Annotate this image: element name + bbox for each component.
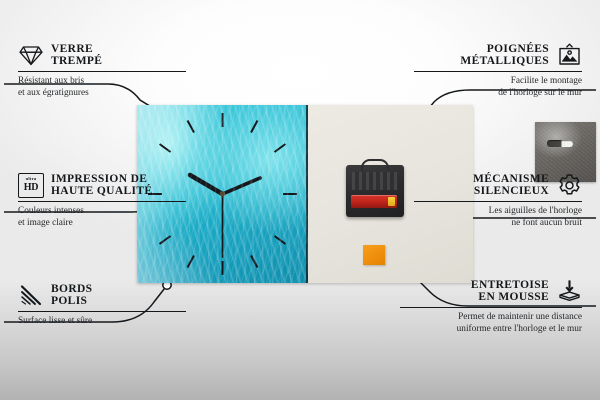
callout-title: BORDS POLIS: [51, 283, 92, 308]
callout-description: Surface lisse et sûre: [18, 316, 186, 327]
callout-impression-haute-qualite: ultra HD IMPRESSION DE HAUTE QUALITÉ Cou…: [18, 172, 186, 229]
callout-rule: [18, 311, 186, 312]
diamond-icon: [18, 42, 44, 68]
clock-minute-hand: [223, 178, 261, 194]
callout-bords-polis: BORDS POLIS Surface lisse et sûre: [18, 282, 186, 328]
ultra-hd-icon-large-text: HD: [24, 183, 39, 193]
mechanism-grill: [352, 172, 398, 190]
infographic-canvas: VERRE TREMPÉ Résistant aux bris et aux é…: [0, 0, 600, 400]
callout-title: POIGNÉES MÉTALLIQUES: [460, 43, 549, 68]
hanger-slot: [547, 140, 573, 147]
callout-rule: [414, 71, 582, 72]
clock-center-cap: [220, 191, 225, 196]
callout-rule: [18, 201, 186, 202]
arrow-onto-pad-icon: [556, 278, 582, 304]
callout-rule: [400, 307, 582, 308]
callout-description: Couleurs intenses et image claire: [18, 206, 186, 229]
diagonal-lines-icon: [18, 282, 44, 308]
callout-description: Les aiguilles de l'horloge ne font aucun…: [414, 206, 582, 229]
ultra-hd-icon: ultra HD: [18, 172, 44, 198]
foam-spacer: [363, 245, 385, 265]
callout-description: Résistant aux bris et aux égratignures: [18, 76, 186, 99]
callout-title: ENTRETOISE EN MOUSSE: [471, 279, 549, 304]
callout-entretoise-en-mousse: ENTRETOISE EN MOUSSE Permet de maintenir…: [400, 278, 582, 335]
callout-rule: [18, 71, 186, 72]
clock-hour-hand: [190, 175, 223, 194]
battery: [351, 195, 397, 208]
callout-rule: [414, 201, 582, 202]
callout-title: IMPRESSION DE HAUTE QUALITÉ: [51, 173, 152, 198]
callout-title: VERRE TREMPÉ: [51, 43, 102, 68]
callout-description: Permet de maintenir une distance uniform…: [400, 312, 582, 335]
callout-verre-trempe: VERRE TREMPÉ Résistant aux bris et aux é…: [18, 42, 186, 99]
silent-clock-mechanism: [346, 165, 404, 217]
callout-title: MÉCANISME SILENCIEUX: [473, 173, 549, 198]
callout-mecanisme-silencieux: MÉCANISME SILENCIEUX Les aiguilles de l'…: [414, 172, 582, 229]
callout-poignees-metalliques: POIGNÉES MÉTALLIQUES Facilite le montage…: [414, 42, 582, 99]
gear-icon: [556, 172, 582, 198]
framed-picture-hook-icon: [556, 42, 582, 68]
battery-positive-tip: [388, 197, 395, 206]
callout-description: Facilite le montage de l'horloge sur le …: [414, 76, 582, 99]
mechanism-loop: [361, 159, 389, 171]
